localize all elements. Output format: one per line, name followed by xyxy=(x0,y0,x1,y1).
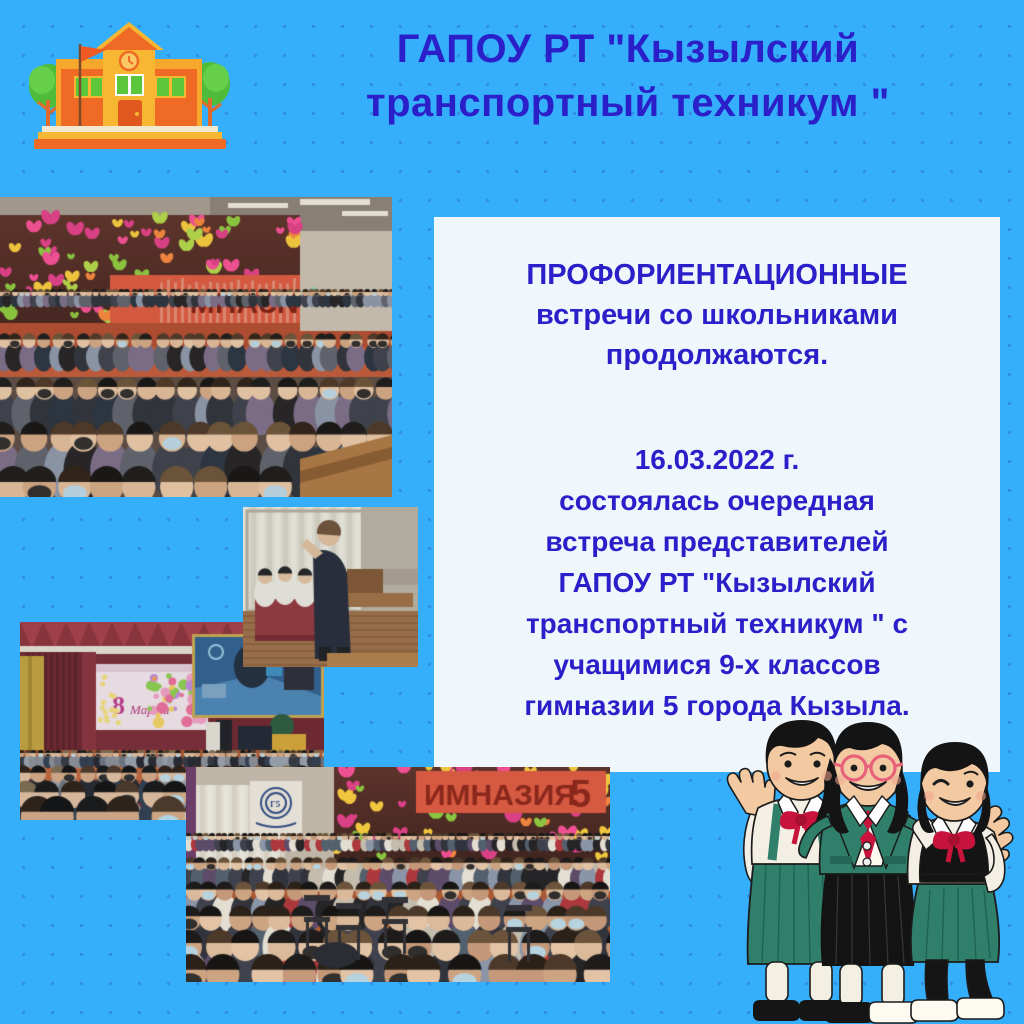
photo-hall-1 xyxy=(0,197,392,497)
card-heading: ПРОФОРИЕНТАЦИОННЫЕ встречи со школьникам… xyxy=(460,255,974,375)
title-line-1: ГАПОУ РТ "Кызылский xyxy=(258,22,998,76)
body-line-6: учащимися 9-х классов xyxy=(460,644,974,685)
title-line-2: транспортный техникум " xyxy=(258,76,998,130)
body-line-1: 16.03.2022 г. xyxy=(460,439,974,480)
body-line-3: встреча представителей xyxy=(460,521,974,562)
poster-header: ГАПОУ РТ "Кызылский транспортный технику… xyxy=(0,0,1024,180)
card-spacer xyxy=(460,381,974,439)
card-body: 16.03.2022 г. состоялась очередная встре… xyxy=(460,439,974,726)
girl-right xyxy=(908,742,1013,1021)
body-line-2: состоялась очередная xyxy=(460,480,974,521)
poster-title: ГАПОУ РТ "Кызылский транспортный технику… xyxy=(258,22,998,130)
body-line-4: ГАПОУ РТ "Кызылский xyxy=(460,562,974,603)
heading-line-2: встречи со школьниками xyxy=(460,295,974,335)
photo-speaker xyxy=(243,507,418,667)
body-line-5: транспортный техникум " с xyxy=(460,603,974,644)
heading-line-3: продолжаются. xyxy=(460,335,974,375)
three-schoolgirls-illustration xyxy=(718,718,1018,1024)
school-building-logo xyxy=(16,14,242,154)
announcement-card: ПРОФОРИЕНТАЦИОННЫЕ встречи со школьникам… xyxy=(434,217,1000,772)
poster-root: ГАПОУ РТ "Кызылский транспортный технику… xyxy=(0,0,1024,1024)
photo-hall-2 xyxy=(186,767,610,982)
heading-line-1: ПРОФОРИЕНТАЦИОННЫЕ xyxy=(460,255,974,295)
